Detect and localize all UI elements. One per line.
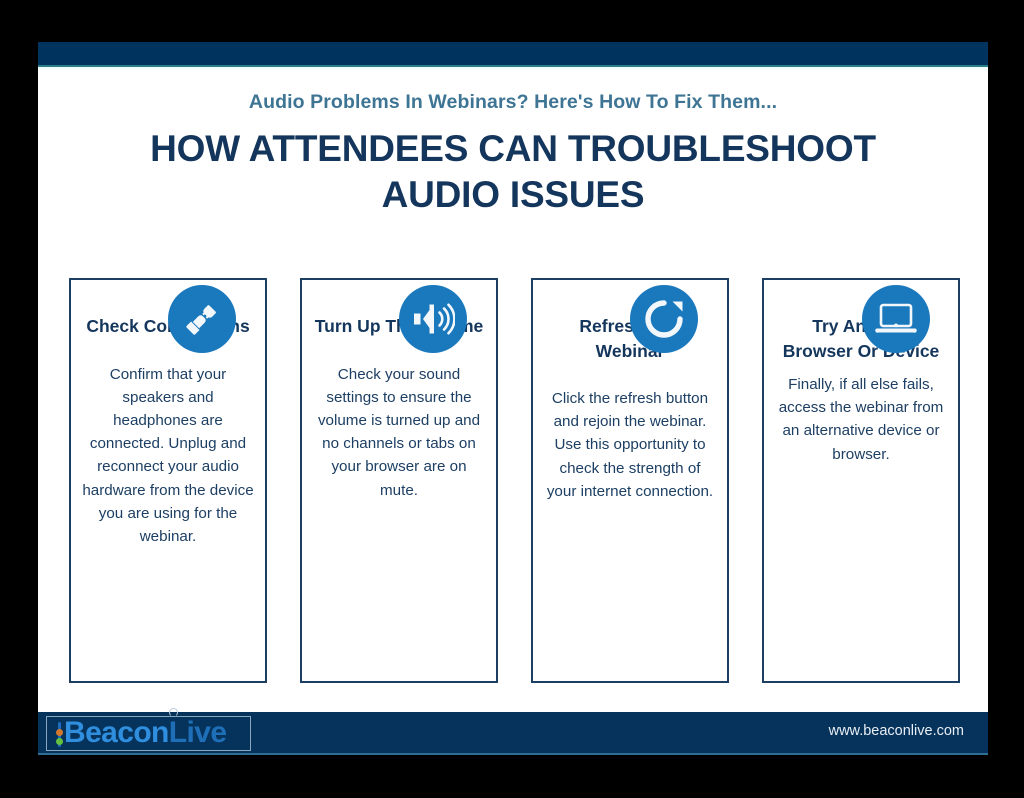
laptop-icon: [874, 301, 918, 337]
card-body: Click the refresh button and rejoin the …: [544, 387, 716, 503]
screenshot-canvas: Audio Problems In Webinars? Here's How T…: [0, 0, 1024, 798]
card-body: Finally, if all else fails, access the w…: [775, 373, 947, 466]
slide-canvas: Audio Problems In Webinars? Here's How T…: [38, 42, 988, 755]
logo-dots-icon: [56, 720, 63, 748]
logo-text: BeaconLive: [64, 715, 226, 751]
refresh-circle-icon: [642, 297, 686, 341]
cards-row: Check Connections Confirm that your spea…: [69, 278, 960, 683]
footer-website-url[interactable]: www.beaconlive.com: [829, 723, 964, 739]
logo-text-live: Live: [169, 716, 227, 749]
slide-header-bar: [38, 42, 988, 65]
speaker-volume-icon: [411, 299, 455, 339]
card-turn-up-the-volume: Turn Up The Volume Check your sound sett…: [300, 278, 498, 683]
card-try-another-browser-or-device: Try Another Browser Or Device Finally, i…: [762, 278, 960, 683]
card-body: Check your sound settings to ensure the …: [313, 363, 485, 502]
card-body: Confirm that your speakers and headphone…: [82, 363, 254, 549]
slide-header-glow: [38, 67, 988, 71]
card-check-connections: Check Connections Confirm that your spea…: [69, 278, 267, 683]
speaker-volume-icon-badge: [399, 285, 467, 353]
plug-connector-icon-badge: [168, 285, 236, 353]
slide-subtitle: Audio Problems In Webinars? Here's How T…: [38, 91, 988, 114]
beaconlive-logo[interactable]: BeaconLive: [46, 716, 251, 751]
laptop-icon-badge: [862, 285, 930, 353]
page-title: HOW ATTENDEES CAN TROUBLESHOOT AUDIO ISS…: [98, 126, 928, 218]
card-refresh-the-webinar: Refresh The Webinar Click the refresh bu…: [531, 278, 729, 683]
slide-footer-bar: BeaconLive www.beaconlive.com: [38, 712, 988, 755]
plug-connector-icon: [180, 297, 224, 341]
logo-text-beacon: Beacon: [64, 716, 169, 749]
footer-accent-line: [38, 753, 988, 755]
refresh-circle-icon-badge: [630, 285, 698, 353]
